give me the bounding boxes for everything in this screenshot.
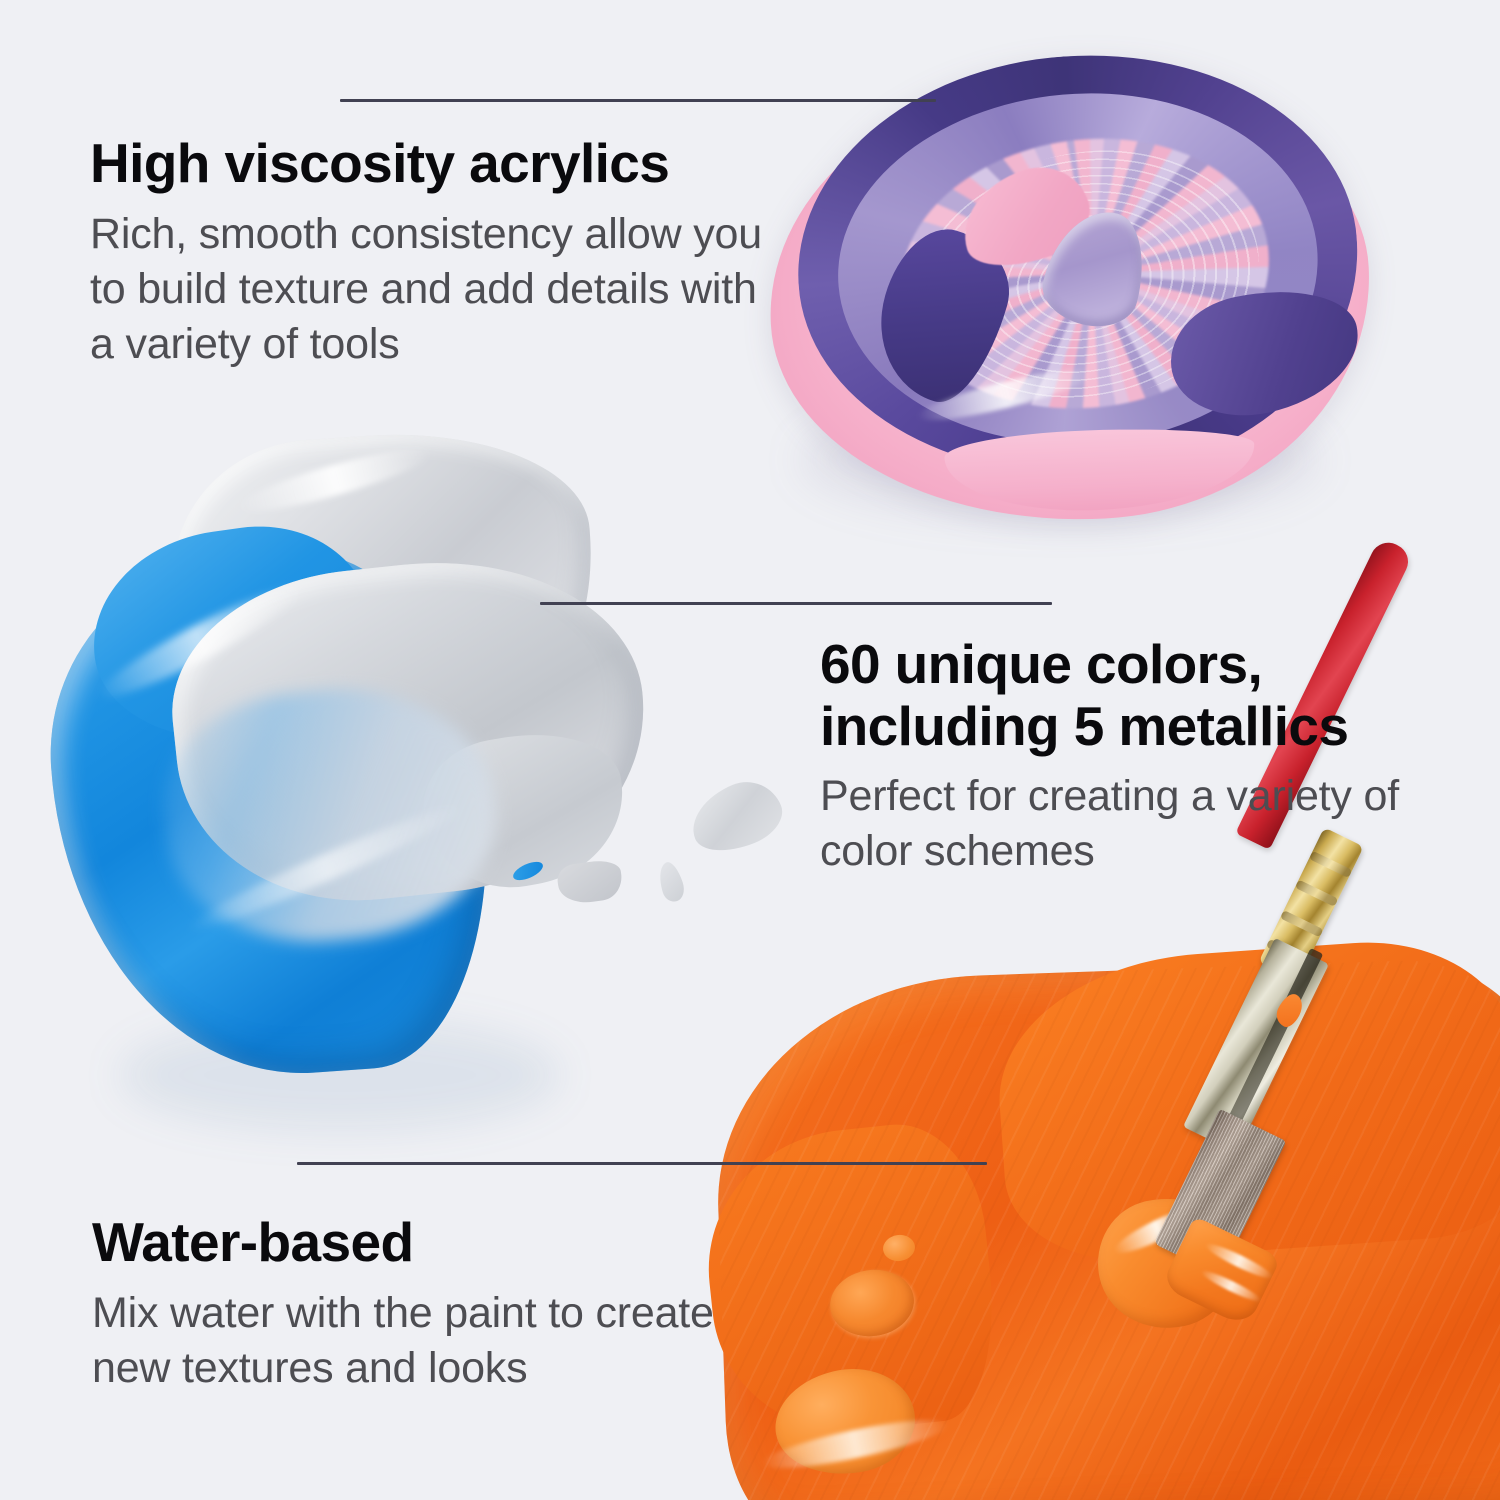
ferrule-crimp-2 [1295,879,1338,906]
feature-water-based: Water-based Mix water with the paint to … [92,1212,752,1396]
feature-sixty-unique-colors: 60 unique colors, including 5 metallics … [820,634,1420,879]
divider-rule-1 [340,99,936,102]
feature-body: Mix water with the paint to create new t… [92,1286,752,1396]
feature-body: Perfect for creating a variety of color … [820,769,1420,879]
ferrule-crimp-3 [1280,910,1323,937]
feature-high-viscosity-acrylics: High viscosity acrylics Rich, smooth con… [90,133,770,372]
feature-title: 60 unique colors, including 5 metallics [820,634,1420,757]
blue-silver-metallic-swatch [55,435,715,1125]
divider-rule-3 [297,1162,987,1165]
feature-body: Rich, smooth consistency allow you to bu… [90,207,770,372]
feature-title: High viscosity acrylics [90,133,770,195]
feature-title: Water-based [92,1212,752,1274]
divider-rule-2 [540,602,1052,605]
purple-pink-paint-swirl [770,52,1380,532]
product-feature-panel: High viscosity acrylics Rich, smooth con… [0,0,1500,1500]
